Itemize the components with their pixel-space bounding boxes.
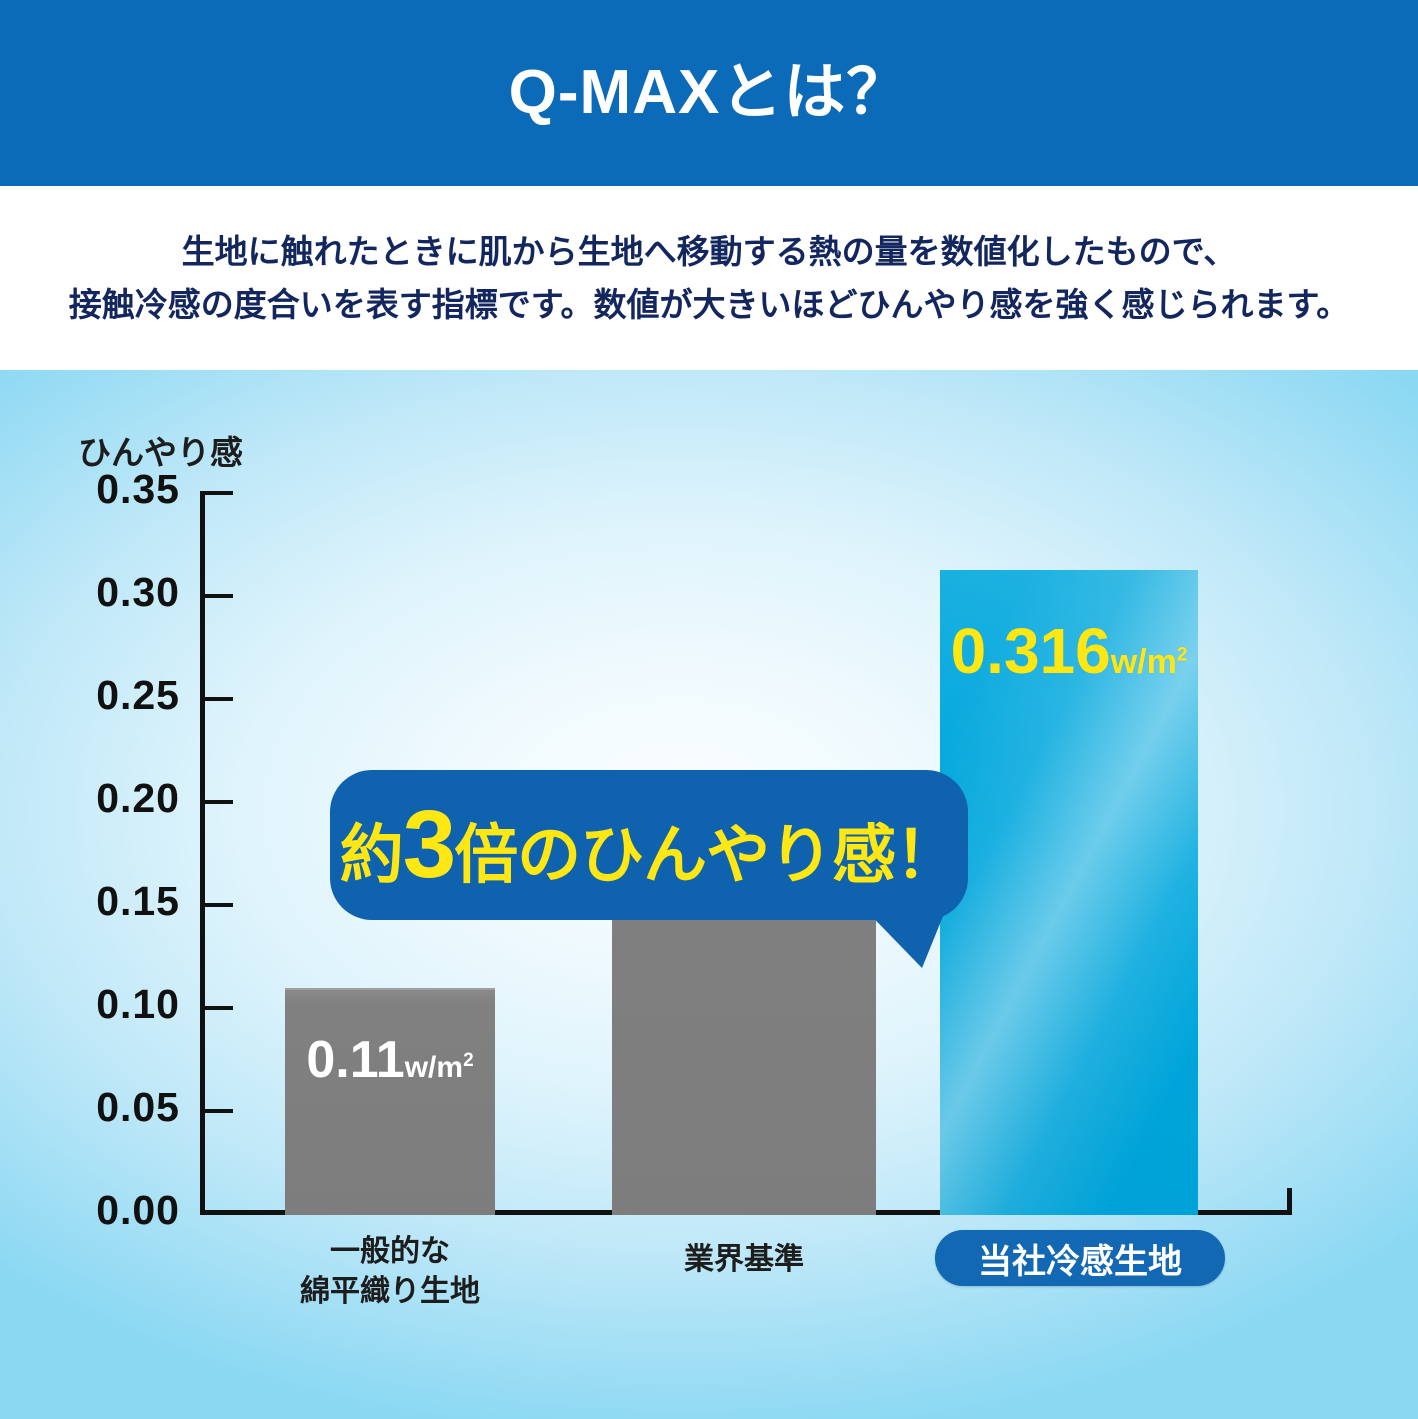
bar-value-unit-1: w/m2 xyxy=(405,1051,474,1084)
bar-chart: ひんやり感 0.35 0.30 0.25 0.20 0.15 0.10 0.05… xyxy=(0,370,1418,1419)
y-tick-0.15 xyxy=(205,903,233,907)
bar-cotton-plain: 0.11w/m2 xyxy=(285,988,495,1215)
y-tick-0.35 xyxy=(205,491,233,495)
callout-number: 3 xyxy=(403,802,454,888)
chart-panel: ひんやり感 0.35 0.30 0.25 0.20 0.15 0.10 0.05… xyxy=(0,370,1418,1419)
y-tick-0.05 xyxy=(205,1109,233,1113)
y-axis-label-4: 0.15 xyxy=(50,878,180,925)
header-banner: Q-MAXとは？ xyxy=(0,0,1418,186)
y-axis-label-5: 0.10 xyxy=(50,981,180,1028)
category-label-cotton-plain: 一般的な 綿平織り生地 xyxy=(280,1232,500,1311)
y-axis-label-7: 0.00 xyxy=(50,1187,180,1234)
bar-value-number-3: 0.316 xyxy=(951,615,1111,687)
y-axis-line xyxy=(200,491,205,1215)
category-label-cotton-plain-line2: 綿平織り生地 xyxy=(280,1272,500,1312)
speech-bubble-text: 約3倍のひんやり感！ xyxy=(340,802,958,888)
x-axis-endcap xyxy=(1287,1188,1292,1215)
y-axis-label-2: 0.25 xyxy=(50,672,180,719)
bar-value-number-1: 0.11 xyxy=(306,1031,404,1089)
category-label-our-cooling-fabric-text: 当社冷感生地 xyxy=(978,1234,1182,1283)
y-tick-0.30 xyxy=(205,594,233,598)
y-axis-label-6: 0.05 xyxy=(50,1084,180,1131)
page-title: Q-MAXとは？ xyxy=(509,62,910,124)
callout-suffix: 倍のひんやり感！ xyxy=(454,823,958,887)
bar-value-our-cooling-fabric: 0.316w/m2 xyxy=(940,614,1198,688)
y-tick-0.10 xyxy=(205,1006,233,1010)
intro-description: 生地に触れたときに肌から生地へ移動する熱の量を数値化したもので、 接触冷感の度合… xyxy=(0,186,1418,370)
bar-value-unit-3: w/m2 xyxy=(1111,643,1188,681)
category-label-industry-standard: 業界基準 xyxy=(624,1240,864,1280)
y-axis-label-3: 0.20 xyxy=(50,775,180,822)
intro-line-2: 接触冷感の度合いを表す指標です。数値が大きいほどひんやり感を強く感じられます。 xyxy=(69,278,1349,331)
y-tick-0.20 xyxy=(205,800,233,804)
speech-bubble-callout: 約3倍のひんやり感！ xyxy=(330,770,968,920)
category-label-industry-standard-line1: 業界基準 xyxy=(624,1240,864,1280)
bar-value-cotton-plain: 0.11w/m2 xyxy=(285,1030,495,1090)
category-label-cotton-plain-line1: 一般的な xyxy=(280,1232,500,1272)
intro-line-1: 生地に触れたときに肌から生地へ移動する熱の量を数値化したもので、 xyxy=(182,225,1237,278)
y-axis-label-0: 0.35 xyxy=(50,466,180,513)
y-tick-0.25 xyxy=(205,697,233,701)
callout-prefix: 約 xyxy=(340,823,403,887)
infographic-page: Q-MAXとは？ 生地に触れたときに肌から生地へ移動する熱の量を数値化したもので… xyxy=(0,0,1418,1419)
category-label-our-cooling-fabric: 当社冷感生地 xyxy=(935,1230,1225,1286)
bar-our-cooling-fabric: 0.316w/m2 xyxy=(940,570,1198,1215)
y-axis-label-1: 0.30 xyxy=(50,569,180,616)
